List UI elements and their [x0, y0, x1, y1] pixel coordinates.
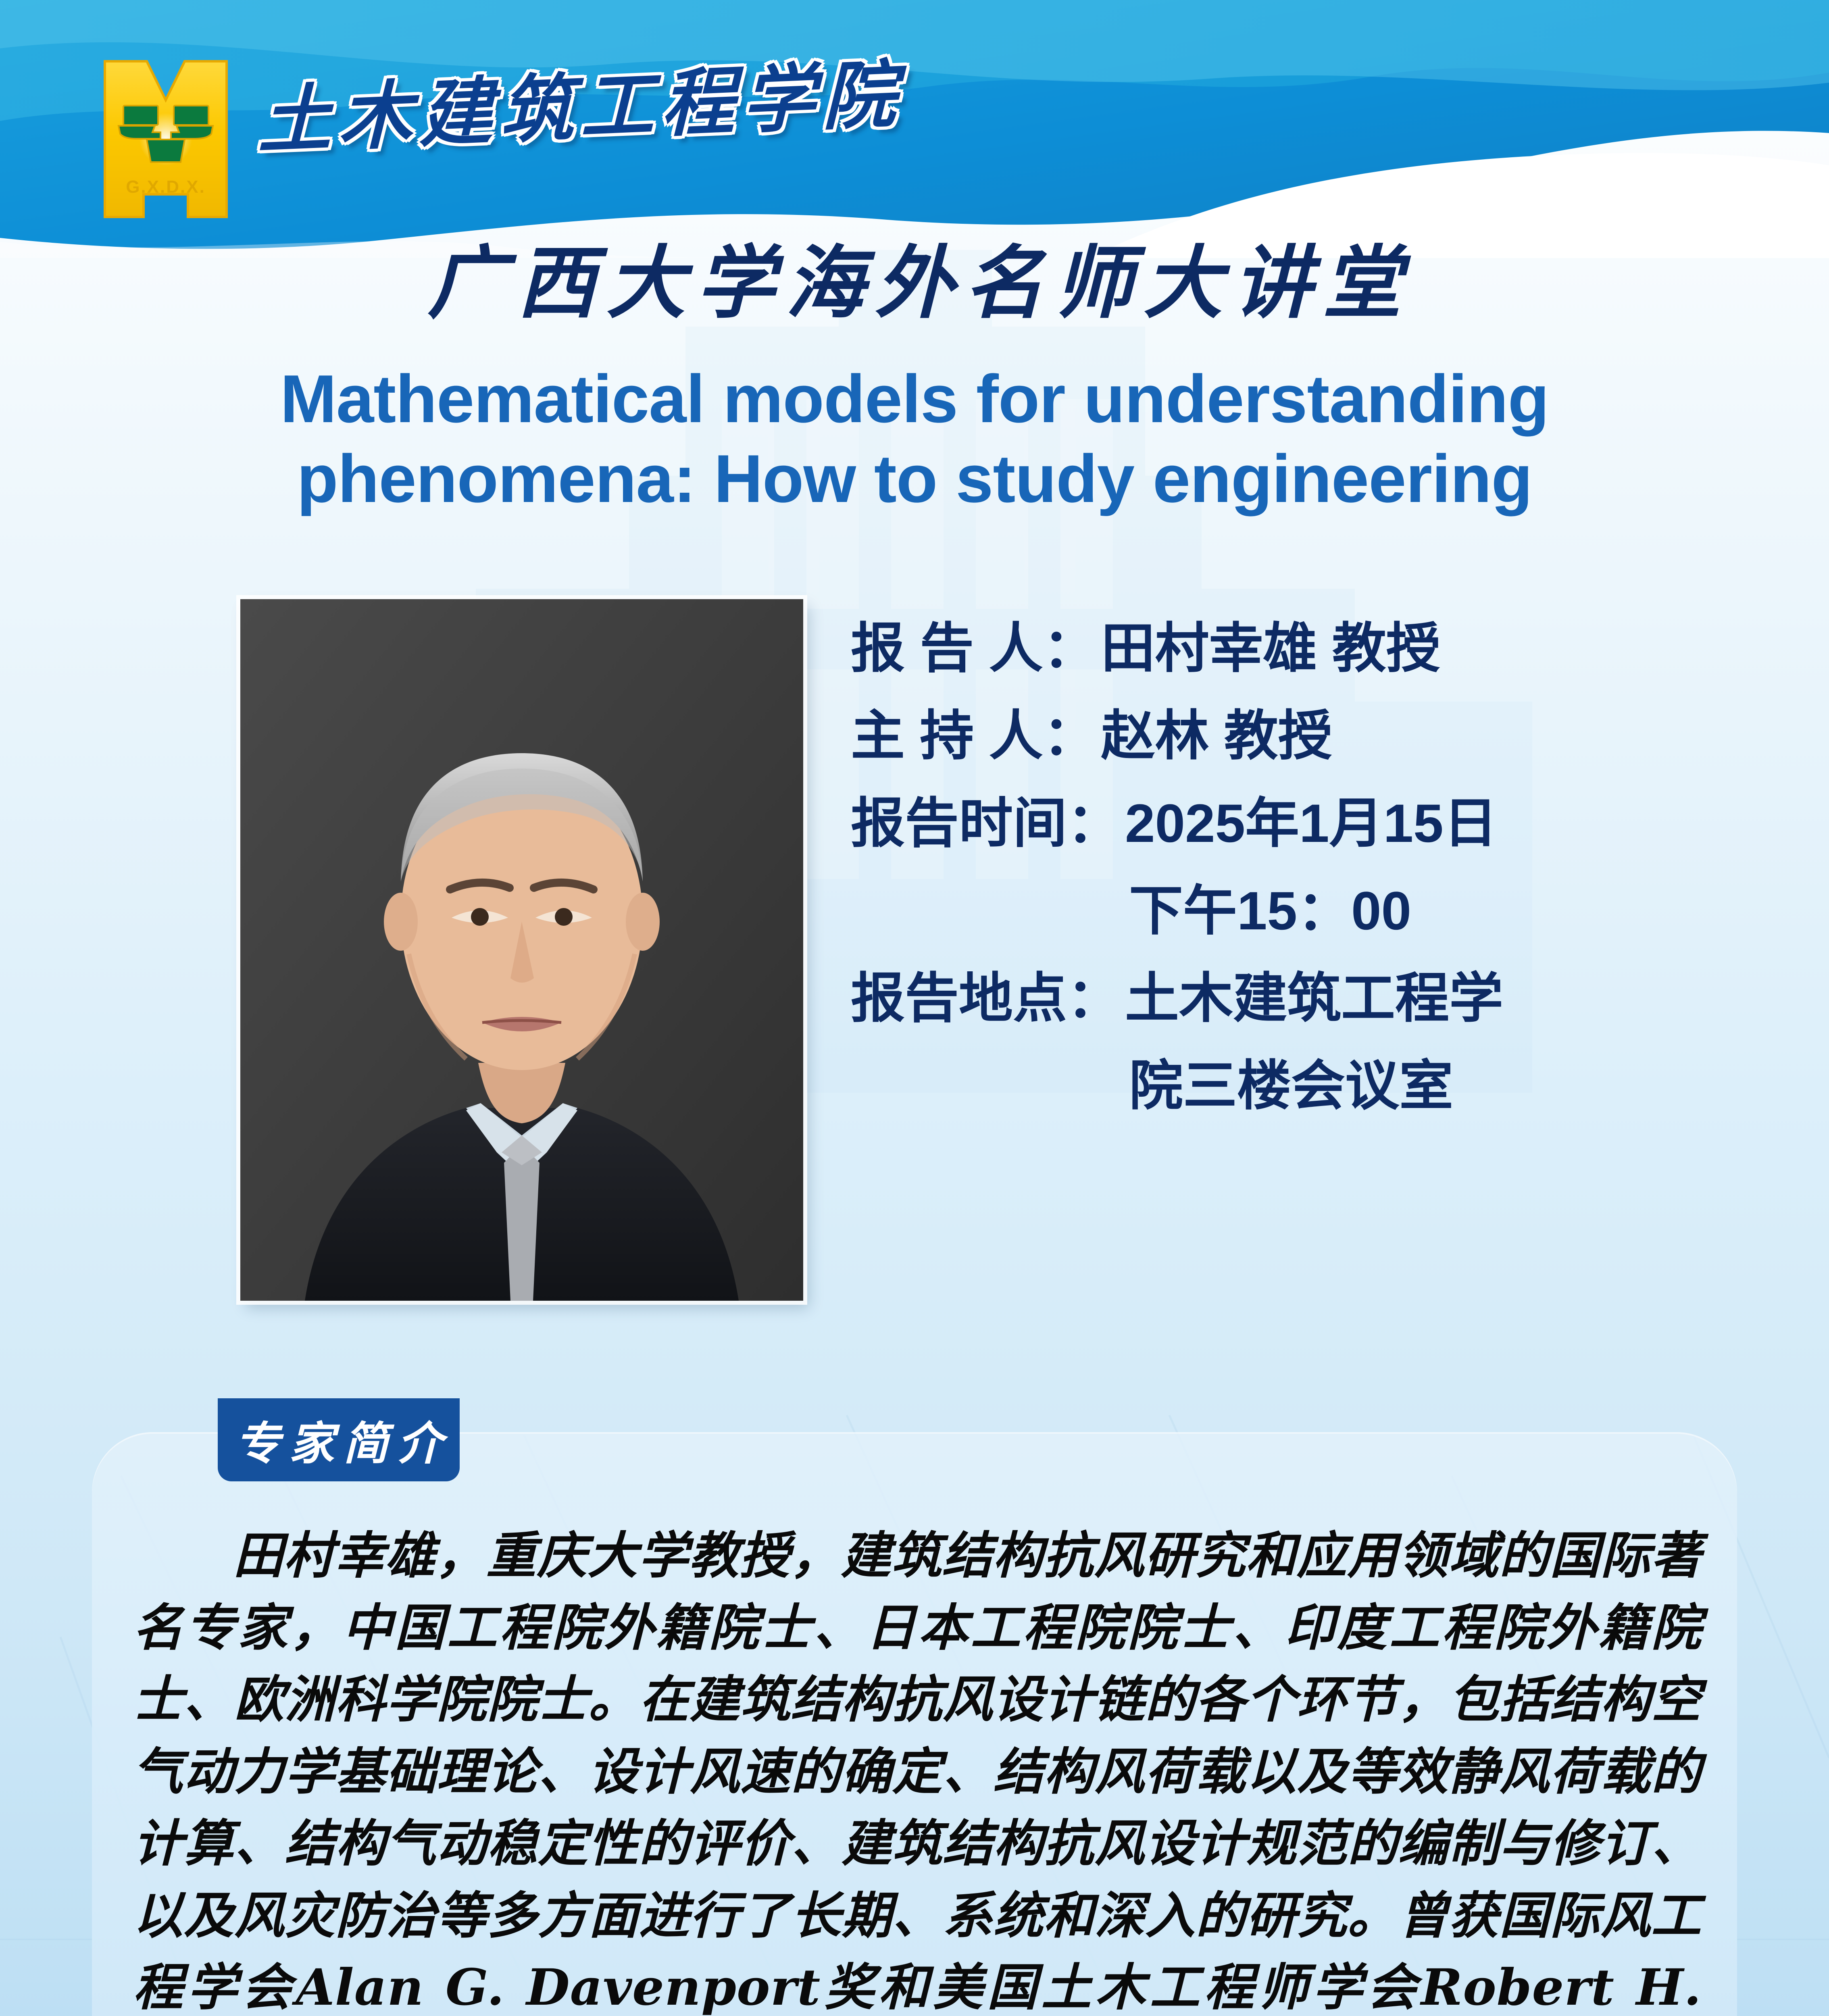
lecture-series-title: 广西大学海外名师大讲堂 — [0, 242, 1829, 325]
lecture-title-line2: phenomena: How to study engineering — [121, 439, 1708, 519]
place-value: 土木建筑工程学 — [1125, 955, 1503, 1042]
lecture-title-line1: Mathematical models for understanding — [121, 359, 1708, 439]
time-value-second-line: 下午15：00 — [851, 867, 1730, 955]
time-row: 报告时间： 2025年1月15日 — [851, 780, 1730, 867]
time-value: 2025年1月15日 — [1125, 780, 1498, 867]
place-label: 报告地点： — [851, 955, 1121, 1042]
host-value: 赵林 教授 — [1101, 692, 1332, 780]
speaker-value: 田村幸雄 教授 — [1101, 605, 1440, 692]
logo-abbrev-text: G.X.D.X. — [126, 177, 206, 197]
speaker-row: 报 告 人： 田村幸雄 教授 — [851, 605, 1730, 692]
host-label: 主 持 人： — [851, 692, 1097, 780]
time-label: 报告时间： — [851, 780, 1121, 867]
expert-bio-badge: 专家简介 — [218, 1398, 460, 1481]
lecture-english-title: Mathematical models for understanding ph… — [121, 359, 1708, 519]
host-row: 主 持 人： 赵林 教授 — [851, 692, 1730, 780]
speaker-label: 报 告 人： — [851, 605, 1097, 692]
event-info-block: 报 告 人： 田村幸雄 教授 主 持 人： 赵林 教授 报告时间： 2025年1… — [851, 605, 1730, 1130]
place-row: 报告地点： 土木建筑工程学 — [851, 955, 1730, 1042]
expert-bio-text: 田村幸雄，重庆大学教授，建筑结构抗风研究和应用领域的国际著名专家，中国工程院外籍… — [133, 1520, 1702, 2016]
gxdx-logo: G.X.D.X. — [99, 52, 232, 226]
speaker-portrait — [240, 599, 803, 1301]
place-value-second-line: 院三楼会议室 — [851, 1042, 1730, 1130]
